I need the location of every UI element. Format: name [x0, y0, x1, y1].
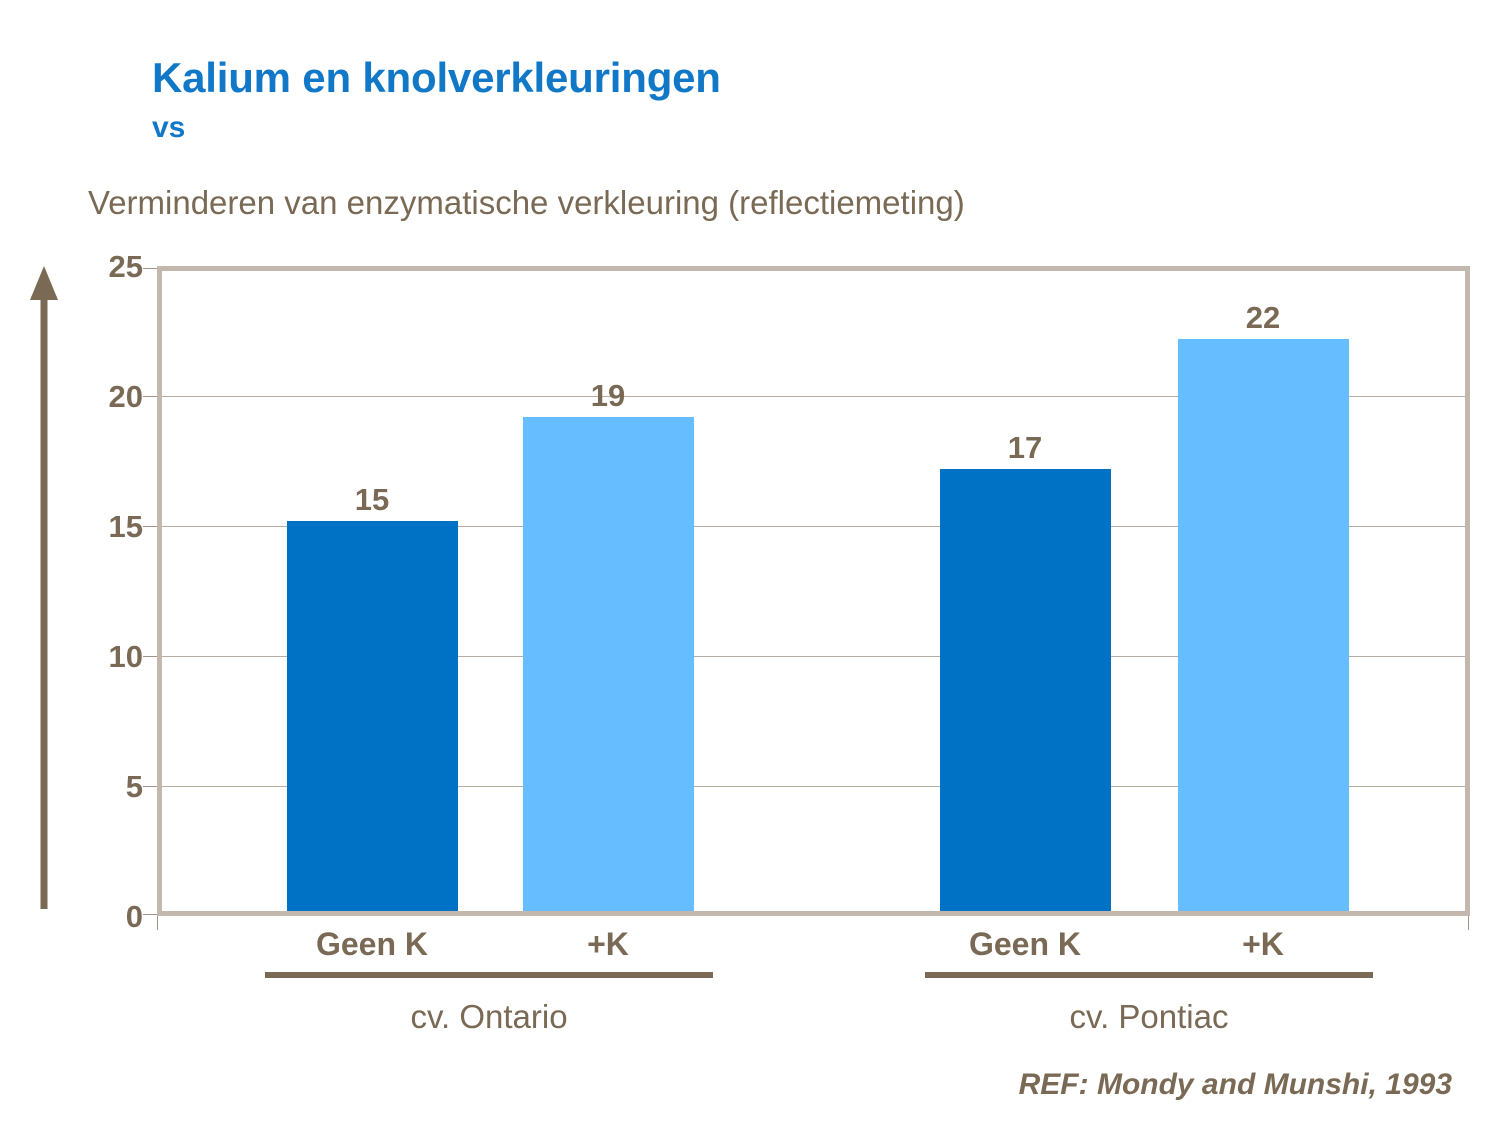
bar-value-ontario-geen-k: 15	[282, 484, 462, 515]
group-label-ontario: cv. Ontario	[265, 1000, 713, 1033]
x-category-pontiac-geen-k: Geen K	[935, 928, 1115, 960]
bar-value-ontario-plus-k: 19	[518, 380, 698, 411]
y-axis: 25 20 15 10 5 0	[65, 266, 143, 916]
y-tick-25	[143, 268, 157, 269]
bar-pontiac-plus-k[interactable]	[1178, 339, 1349, 911]
group-rule-ontario	[265, 972, 713, 978]
bar-value-pontiac-geen-k: 17	[935, 432, 1115, 463]
bar-value-pontiac-plus-k: 22	[1173, 302, 1353, 333]
subtitle-vs: vs	[152, 112, 185, 144]
x-category-ontario-plus-k: +K	[518, 928, 698, 960]
y-tick-15	[143, 526, 157, 527]
y-tick-0	[143, 914, 157, 915]
page-title: Kalium en knolverkleuringen	[152, 56, 721, 100]
x-category-pontiac-plus-k: +K	[1173, 928, 1353, 960]
y-tick-20	[143, 396, 157, 397]
y-tick-10	[143, 656, 157, 657]
bar-pontiac-geen-k[interactable]	[940, 469, 1111, 911]
y-tick-label-10: 10	[83, 641, 143, 672]
x-tick-right	[1468, 916, 1469, 930]
reference-note: REF: Mondy and Munshi, 1993	[1019, 1068, 1452, 1102]
x-category-ontario-geen-k: Geen K	[282, 928, 462, 960]
y-tick-label-15: 15	[83, 511, 143, 542]
plot-area	[157, 266, 1470, 916]
group-label-pontiac: cv. Pontiac	[925, 1000, 1373, 1033]
up-arrow-icon	[28, 264, 60, 909]
bar-ontario-geen-k[interactable]	[287, 521, 458, 911]
group-rule-pontiac	[925, 972, 1373, 978]
y-tick-label-20: 20	[83, 381, 143, 412]
bar-ontario-plus-k[interactable]	[523, 417, 694, 911]
y-tick-label-5: 5	[83, 771, 143, 802]
y-tick-label-25: 25	[83, 251, 143, 282]
chart-caption: Verminderen van enzymatische verkleuring…	[88, 184, 965, 222]
y-tick-5	[143, 786, 157, 787]
x-tick-left	[157, 916, 158, 930]
y-tick-label-0: 0	[83, 901, 143, 932]
